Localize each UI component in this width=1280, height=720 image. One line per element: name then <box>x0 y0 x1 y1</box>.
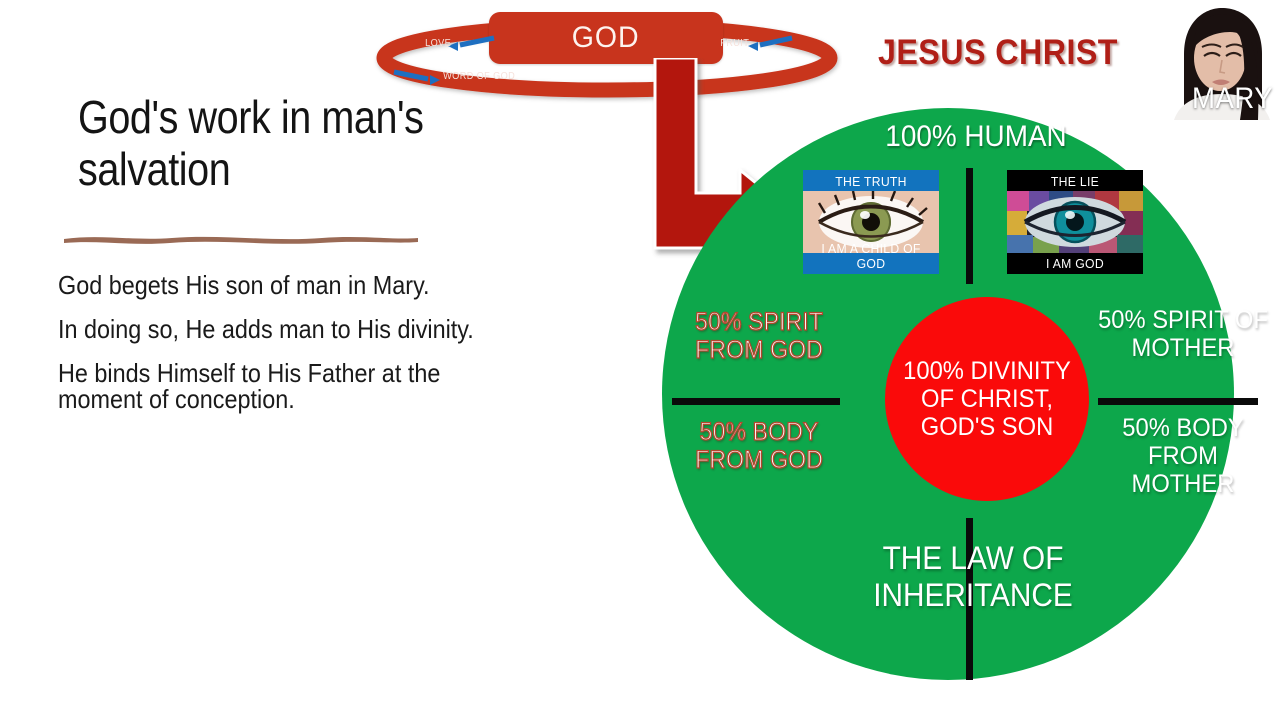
divinity-core-label: 100% DIVINITY OF CHRIST, GOD'S SON <box>902 357 1073 441</box>
divider-vertical-top <box>966 168 973 284</box>
ring-label-love: LOVE <box>425 38 451 49</box>
lie-card: THE LIE <box>1007 170 1143 274</box>
divinity-core: 100% DIVINITY OF CHRIST, GOD'S SON <box>885 297 1089 501</box>
fruit-arrow-icon <box>748 38 792 51</box>
slide-canvas: God's work in man's salvation God begets… <box>0 0 1280 720</box>
word-of-god-arrow-icon <box>394 72 440 85</box>
diagram-heading: JESUS CHRIST <box>878 33 1118 73</box>
label-right-spirit: 50% SPIRIT OF MOTHER <box>1095 306 1272 362</box>
colorful-eye-image <box>1007 191 1143 253</box>
body-line-2: In doing so, He adds man to His divinity… <box>58 316 508 342</box>
body-paragraphs: God begets His son of man in Mary. In do… <box>58 272 508 430</box>
divider-horizontal-right <box>1098 398 1258 405</box>
body-line-3: He binds Himself to His Father at the mo… <box>58 360 508 412</box>
body-line-1: God begets His son of man in Mary. <box>58 272 508 298</box>
ring-label-word-of-god: WORD OF GOD <box>443 71 515 82</box>
ring-label-fruit: FRUIT <box>720 38 749 49</box>
truth-card: THE TRUTH I AM A CHILD OF GOD <box>803 170 939 274</box>
label-100-percent-human: 100% HUMAN <box>874 120 1079 154</box>
label-left-spirit: 50% SPIRIT FROM GOD <box>671 308 848 364</box>
label-law-of-inheritance: THE LAW OF INHERITANCE <box>851 540 1095 614</box>
mary-label: MARY <box>1192 82 1273 116</box>
divider-horizontal-left <box>672 398 840 405</box>
title-underline-decoration <box>62 232 420 244</box>
love-arrow-icon <box>448 38 494 51</box>
lie-card-title: THE LIE <box>1011 174 1139 189</box>
truth-card-title: THE TRUTH <box>807 174 935 189</box>
lie-card-caption: I AM GOD <box>1011 256 1139 271</box>
psychedelic-eye-illustration <box>1007 191 1143 253</box>
page-title: God's work in man's salvation <box>78 92 482 195</box>
label-right-body: 50% BODY FROM MOTHER <box>1095 414 1272 498</box>
label-left-body: 50% BODY FROM GOD <box>671 418 848 474</box>
truth-card-caption: I AM A CHILD OF GOD <box>807 241 935 271</box>
